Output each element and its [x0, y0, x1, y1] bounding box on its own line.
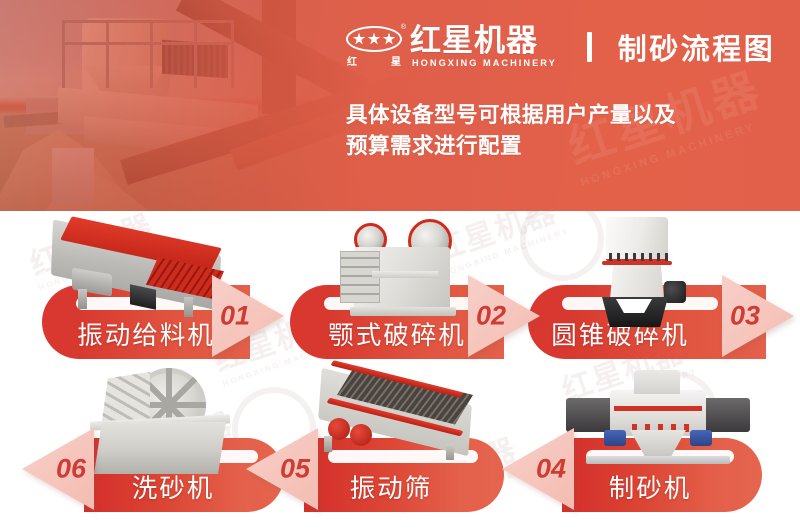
- star-icon-2: [368, 33, 381, 46]
- step-05-white-bar: [328, 450, 478, 463]
- logo-oval-stars-icon: [346, 26, 402, 52]
- flow-step-03[interactable]: 圆锥破碎机 03: [522, 223, 772, 373]
- flow-diagram-body: 红星机器HONGXING MACHINERY 红星机器HONGXING MACH…: [0, 211, 800, 530]
- flow-step-04[interactable]: 制砂机 04: [520, 376, 770, 526]
- flow-step-02[interactable]: 颚式破碎机 02: [282, 223, 532, 373]
- step-05-arrow-icon: 05: [246, 428, 318, 510]
- step-02-white-bar: [324, 297, 476, 310]
- logo-sub-left: 红: [347, 53, 357, 68]
- logo-sub-right: 星: [391, 53, 401, 68]
- step-05-label: 振动筛: [304, 468, 478, 505]
- header-subtitle: 具体设备型号可根据用户产量以及 预算需求进行配置: [346, 100, 676, 162]
- flow-step-05[interactable]: 振动筛 05: [272, 376, 522, 526]
- step-03-arrow-icon: 03: [722, 275, 794, 357]
- flow-row-2: 洗砂机 06: [0, 376, 800, 526]
- flow-step-01[interactable]: 振动给料机 01: [22, 223, 272, 373]
- brand-name-en: HONGXING MACHINERY: [412, 58, 557, 69]
- step-01-white-bar: [76, 297, 226, 310]
- step-01-arrow-icon: 01: [212, 275, 284, 357]
- step-06-label: 洗砂机: [84, 468, 262, 505]
- step-04-white-bar: [586, 450, 734, 463]
- step-03-number: 03: [730, 301, 760, 332]
- step-06-arrow-icon: 06: [22, 428, 94, 510]
- hongxing-logo-icon: ® 红 星: [345, 23, 403, 71]
- step-06-white-bar: [108, 450, 258, 463]
- brand-text: 红星机器 HONGXING MACHINERY: [403, 25, 557, 69]
- sand-making-flow-poster: 红星机器 HONGXING MACHINERY ® 红 星 红星机器 HONGX…: [0, 0, 800, 530]
- poster-header: 红星机器 HONGXING MACHINERY ® 红 星 红星机器 HONGX…: [0, 0, 800, 211]
- step-02-number: 02: [476, 301, 506, 332]
- brand-row: ® 红 星 红星机器 HONGXING MACHINERY 制砂流程图: [345, 22, 775, 72]
- step-01-number: 01: [220, 301, 250, 332]
- star-icon-1: [353, 33, 366, 46]
- step-04-label: 制砂机: [562, 468, 738, 505]
- step-03-label: 圆锥破碎机: [518, 315, 722, 352]
- flow-row-1: 振动给料机 01 颚式破碎机: [0, 223, 800, 373]
- brand-name-cn: 红星机器: [410, 25, 557, 57]
- star-icon-3: [383, 33, 396, 46]
- step-02-arrow-icon: 02: [468, 275, 540, 357]
- subtitle-line-1: 具体设备型号可根据用户产量以及: [346, 100, 676, 131]
- step-06-number: 06: [56, 454, 86, 485]
- step-03-white-bar: [562, 297, 718, 310]
- registered-mark: ®: [401, 24, 406, 31]
- flow-step-06[interactable]: 洗砂机 06: [22, 376, 272, 526]
- step-05-number: 05: [280, 454, 310, 485]
- step-04-arrow-icon: 04: [502, 428, 574, 510]
- title-divider: [587, 32, 592, 62]
- step-05-pill[interactable]: 振动筛: [304, 438, 504, 512]
- page-title: 制砂流程图: [618, 26, 776, 68]
- logo-sub-characters: 红 星: [347, 53, 401, 68]
- step-04-number: 04: [536, 454, 566, 485]
- subtitle-line-2: 预算需求进行配置: [346, 131, 676, 162]
- step-04-pill[interactable]: 制砂机: [562, 438, 762, 512]
